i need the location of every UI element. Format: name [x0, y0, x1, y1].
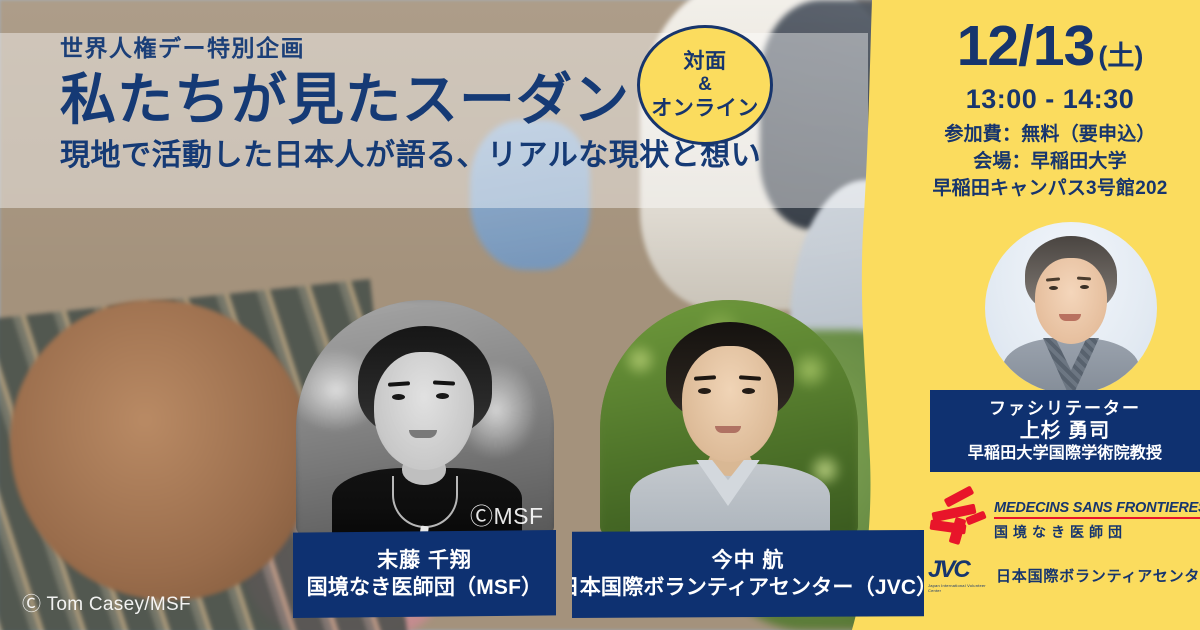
event-date: 12/13	[957, 18, 1095, 75]
speaker-2-mouth	[715, 426, 741, 433]
detail-venue-room: 早稲田キャンパス3号館202	[900, 176, 1200, 203]
jvc-name-jp: 日本国際ボランティアセンター	[996, 565, 1200, 586]
speaker-1-organization: 国境なき医師団（MSF）	[307, 574, 543, 601]
facilitator-face	[1035, 258, 1107, 344]
facilitator-name: 上杉 勇司	[1020, 419, 1111, 444]
msf-logo-text: MEDECINS SANS FRONTIERES 国境なき医師団	[994, 500, 1200, 544]
speaker-1-photo-credit: ⒸMSF	[470, 497, 544, 531]
badge-line-online: オンライン	[651, 97, 759, 121]
speaker-2-eye-left	[698, 388, 711, 394]
msf-name-jp: 国境なき医師団	[994, 522, 1200, 542]
facilitator-title: 早稲田大学国際学術院教授	[968, 444, 1162, 464]
speaker-2-organization: 日本国際ボランティアセンター（JVC）	[559, 574, 938, 601]
jvc-subtext: Japan International Volunteer Center	[928, 583, 986, 593]
speaker-2-caption: 今中 航 日本国際ボランティアセンター（JVC）	[572, 530, 924, 618]
msf-logo: MEDECINS SANS FRONTIERES 国境なき医師団	[928, 492, 1193, 544]
date-line: 12/13 (土)	[900, 18, 1200, 75]
speaker-1-eye-left	[392, 394, 405, 400]
facilitator-card: ファシリテーター 上杉 勇司 早稲田大学国際学術院教授	[930, 390, 1200, 472]
event-details: 参加費：無料（要申込） 会場：早稲田大学 早稲田キャンパス3号館202	[900, 122, 1200, 203]
facilitator-eye-left	[1049, 286, 1058, 290]
speaker-2-face	[682, 346, 778, 462]
speaker-1-face	[374, 352, 474, 470]
jvc-monogram-icon: JVC Japan International Volunteer Center	[928, 558, 986, 592]
speaker-1-caption: 末藤 千翔 国境なき医師団（MSF）	[293, 530, 556, 618]
event-day-of-week: (土)	[1098, 34, 1143, 73]
organization-logos: MEDECINS SANS FRONTIERES 国境なき医師団 JVC Jap…	[928, 492, 1193, 592]
speaker-1-mouth	[409, 430, 437, 438]
date-block: 12/13 (土) 13:00 - 14:30	[900, 18, 1200, 115]
facilitator-avatar	[985, 222, 1157, 394]
detail-venue: 会場：早稲田大学	[900, 149, 1200, 176]
jvc-logo: JVC Japan International Volunteer Center…	[928, 558, 1193, 592]
badge-ampersand: &	[698, 74, 712, 95]
speaker-1-name: 末藤 千翔	[377, 547, 472, 574]
detail-fee: 参加費：無料（要申込）	[900, 122, 1200, 149]
speaker-2-photo	[600, 300, 858, 536]
msf-running-figure-icon	[928, 492, 988, 544]
speaker-2-eye-right	[742, 388, 755, 394]
jvc-letters: JVC	[928, 558, 986, 582]
speaker-1-eye-right	[436, 393, 449, 399]
format-badge: 対面 & オンライン	[637, 25, 773, 145]
msf-name-en: MEDECINS SANS FRONTIERES	[994, 500, 1200, 519]
facilitator-role: ファシリテーター	[989, 398, 1141, 419]
badge-line-onsite: 対面	[684, 50, 727, 74]
facilitator-mouth	[1059, 314, 1081, 321]
event-time: 13:00 - 14:30	[900, 84, 1200, 115]
facilitator-eye-right	[1080, 285, 1089, 289]
page-subtitle: 現地で活動した日本人が語る、リアルな現状と想い	[60, 138, 860, 174]
speaker-2-name: 今中 航	[712, 547, 785, 574]
background-photo-credit: Ⓒ Tom Casey/MSF	[22, 589, 191, 616]
event-poster: 世界人権デー特別企画 私たちが見たスーダン 現地で活動した日本人が語る、リアルな…	[0, 0, 1200, 630]
